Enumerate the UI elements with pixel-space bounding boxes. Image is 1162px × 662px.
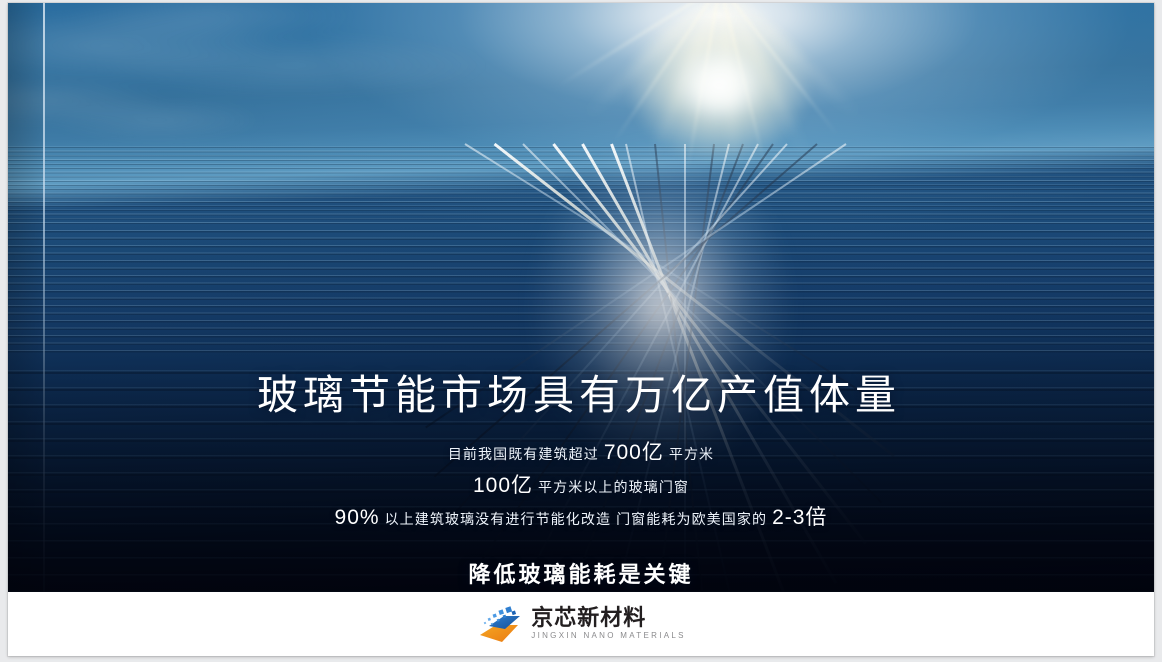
stat-3-mid: 以上建筑玻璃没有进行节能化改造 门窗能耗为欧美国家的 xyxy=(385,511,768,527)
stat-3-number-2: 2-3倍 xyxy=(772,506,827,529)
stat-2-number: 100亿 xyxy=(473,474,533,497)
stat-line-2: 100亿 平方米以上的玻璃门窗 xyxy=(8,470,1154,503)
text-block: 玻璃节能市场具有万亿产值体量 目前我国既有建筑超过 700亿 平方米 100亿 … xyxy=(8,371,1154,589)
page-title: 玻璃节能市场具有万亿产值体量 xyxy=(8,371,1154,419)
stat-1-lead: 目前我国既有建筑超过 xyxy=(448,446,599,462)
stat-1-tail: 平方米 xyxy=(669,446,714,462)
hero-background-image: 玻璃节能市场具有万亿产值体量 目前我国既有建筑超过 700亿 平方米 100亿 … xyxy=(8,3,1154,592)
brand-logo: 京芯新材料 JINGXIN NANO MATERIALS xyxy=(476,604,685,644)
stat-3-number: 90% xyxy=(335,506,380,529)
stat-1-number: 700亿 xyxy=(604,441,664,464)
tagline: 降低玻璃能耗是关键 xyxy=(8,557,1154,589)
stat-2-tail: 平方米以上的玻璃门窗 xyxy=(538,479,689,495)
pixel-squares-logo-icon xyxy=(476,604,522,644)
sun-glare xyxy=(599,3,839,185)
footer: 京芯新材料 JINGXIN NANO MATERIALS xyxy=(8,592,1154,656)
stat-line-1: 目前我国既有建筑超过 700亿 平方米 xyxy=(8,437,1154,470)
logo-wordmark: 京芯新材料 JINGXIN NANO MATERIALS xyxy=(531,606,685,641)
stat-line-3: 90% 以上建筑玻璃没有进行节能化改造 门窗能耗为欧美国家的 2-3倍 xyxy=(8,502,1154,535)
logo-name-en: JINGXIN NANO MATERIALS xyxy=(531,631,685,641)
slide: 玻璃节能市场具有万亿产值体量 目前我国既有建筑超过 700亿 平方米 100亿 … xyxy=(8,3,1154,656)
logo-name-cn: 京芯新材料 xyxy=(531,606,646,629)
